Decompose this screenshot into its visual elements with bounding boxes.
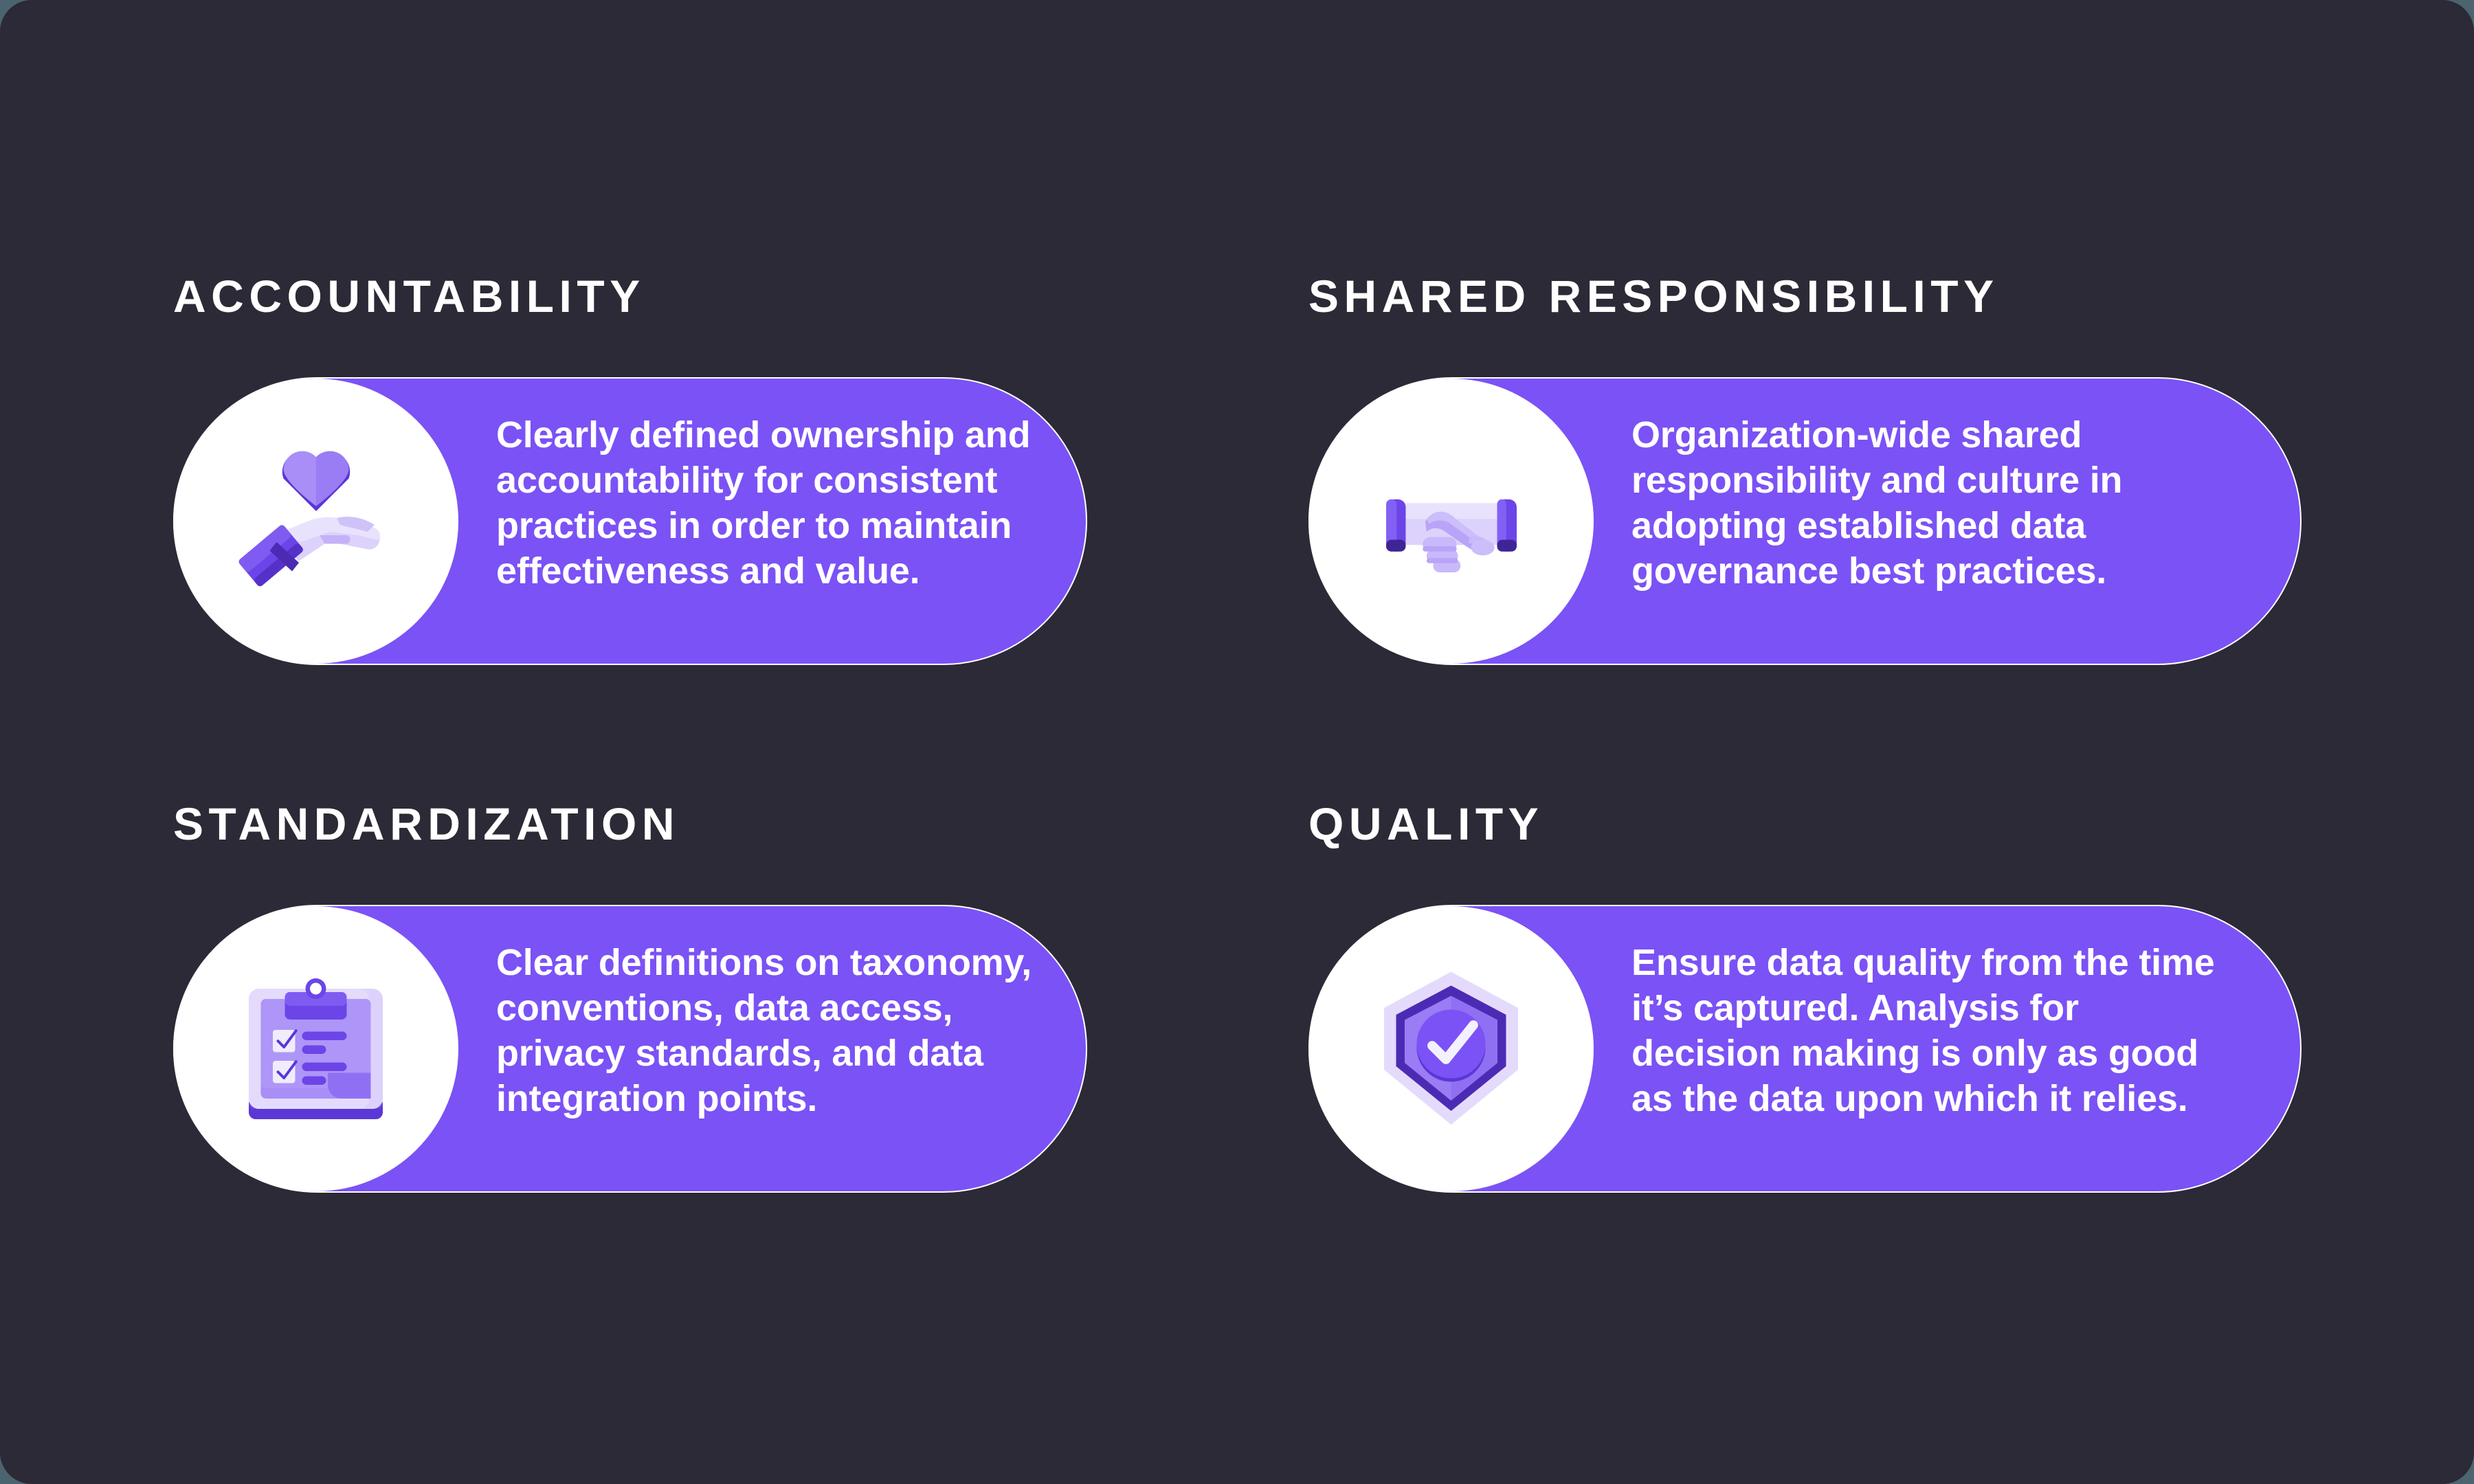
card-heading: QUALITY [1308, 801, 1544, 846]
handshake-icon [1372, 456, 1530, 587]
card-icon-circle [173, 906, 458, 1191]
card-description: Organization-wide shared responsibility … [1631, 413, 2216, 594]
card-body: Organization-wide shared responsibility … [1308, 377, 2304, 665]
card-description: Ensure data quality from the time it’s c… [1631, 941, 2216, 1122]
principles-grid: ACCOUNTABILITY Clearly defined ownership… [173, 273, 2304, 1242]
hand-heart-icon [230, 436, 402, 607]
infographic-panel: ACCOUNTABILITY Clearly defined ownership… [0, 0, 2474, 1484]
card-body: Clear definitions on taxonomy, conventio… [173, 905, 1168, 1193]
card-icon-circle [173, 379, 458, 664]
card-standardization[interactable]: STANDARDIZATION Clear definitions on tax… [173, 801, 1168, 1193]
shield-check-icon [1374, 967, 1528, 1132]
card-icon-circle [1308, 379, 1594, 664]
card-quality[interactable]: QUALITY Ensure data quality from the tim… [1308, 801, 2304, 1193]
card-heading: ACCOUNTABILITY [173, 273, 645, 319]
card-description: Clearly defined ownership and accountabi… [496, 413, 1067, 594]
card-description: Clear definitions on taxonomy, conventio… [496, 941, 1067, 1122]
card-accountability[interactable]: ACCOUNTABILITY Clearly defined ownership… [173, 273, 1168, 665]
card-body: Clearly defined ownership and accountabi… [173, 377, 1168, 665]
card-heading: SHARED RESPONSIBILITY [1308, 273, 1999, 319]
card-shared-responsibility[interactable]: SHARED RESPONSIBILITY Organization-wide … [1308, 273, 2304, 665]
card-icon-circle [1308, 906, 1594, 1191]
card-body: Ensure data quality from the time it’s c… [1308, 905, 2304, 1193]
clipboard-checklist-icon [242, 968, 390, 1129]
card-heading: STANDARDIZATION [173, 801, 680, 846]
